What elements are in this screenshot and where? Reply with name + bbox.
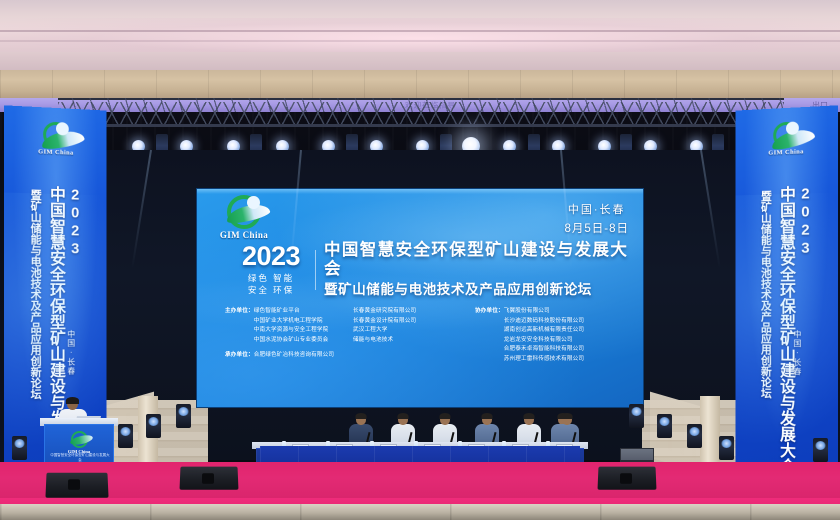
organizer-item: 中国水泥协会矿山专业委员会 <box>254 336 329 346</box>
coorganizer-item: 湖南创远高新机械有限责任公司 <box>504 326 584 336</box>
floor-moving-light-icon <box>657 414 672 438</box>
organizer-item: 长春黄金研究院有限公司 <box>353 307 465 317</box>
undertaker-label: 承办单位： <box>225 351 254 361</box>
organizer-item: 储能与电池技术 <box>353 336 465 346</box>
banner-right-place: 中国·长春 <box>792 330 803 376</box>
screen-year-sub-1: 绿色 智能 <box>231 273 311 284</box>
screen-title-main: 中国智慧安全环保型矿山建设与发展大会 暨矿山储能与电池技术及产品应用创新论坛 <box>324 241 631 298</box>
sponsor-col-coorganizer: 协办单位：飞翼股份有限公司 协办单位：长沙迪迈数码科技股份有限公司 协办单位：湖… <box>475 307 625 365</box>
gim-ring-icon <box>773 121 799 148</box>
stage-photo: 欢迎莅临指导 出口 <box>0 0 840 520</box>
screen-year-block: 2023 绿色 智能 安全 环保 <box>231 243 311 296</box>
gim-logo-text: GIM China <box>209 230 279 240</box>
ceiling-glow <box>0 18 840 52</box>
organizer-item: 绿色智能矿业平台 <box>254 307 300 317</box>
organizer-label: 主办单位： <box>225 307 254 317</box>
stage-monitor-speaker <box>45 473 108 498</box>
screen-city: 中国·长春 <box>564 201 629 217</box>
panelist-hair <box>562 413 573 419</box>
screen-sponsors: 主办单位：绿色智能矿业平台 主办单位：中国矿业大学机电工程学院 主办单位：中南大… <box>225 307 644 365</box>
gim-ring-icon <box>71 431 88 448</box>
title-divider <box>315 250 316 290</box>
gim-logo-text: GIM China <box>25 148 86 157</box>
floor-moving-light-icon <box>12 436 27 460</box>
stage-carpet <box>0 462 840 502</box>
banner-right-title-sub: 暨矿山储能与电池技术及产品应用创新论坛 <box>758 190 774 485</box>
floor-moving-light-icon <box>118 424 133 448</box>
floor-moving-light-icon <box>687 424 702 448</box>
coorganizer-item: 飞翼股份有限公司 <box>504 307 550 317</box>
gim-ring-icon <box>43 121 69 148</box>
screen-dates: 8月5日-8日 <box>564 220 629 236</box>
pillar-right <box>700 396 720 472</box>
panelist-hair <box>524 413 535 419</box>
coorganizer-item: 长沙迪迈数码科技股份有限公司 <box>504 317 584 327</box>
floor-moving-light-icon <box>176 404 191 428</box>
coorganizer-item: 合肥泰禾卓海智能科技有限公司 <box>504 345 584 355</box>
sponsor-col-organizer-1: 主办单位：绿色智能矿业平台 主办单位：中国矿业大学机电工程学院 主办单位：中南大… <box>225 307 343 365</box>
gim-logo-text: GIM China <box>756 148 817 157</box>
panelist-hair <box>482 413 493 419</box>
banner-right-logo: GIM China <box>756 121 817 158</box>
stage-apron-edge <box>0 504 840 520</box>
undertaker-value: 合肥绿色矿冶科技咨询有限公司 <box>254 351 334 361</box>
screen-place-block: 中国·长春 8月5日-8日 <box>564 201 629 236</box>
coorganizer-item: 龙岩龙安安全科技有限公司 <box>504 336 573 346</box>
floor-moving-light-icon <box>629 404 644 428</box>
screen-top-highlight <box>197 189 643 194</box>
main-led-screen: GIM China 中国·长春 8月5日-8日 2023 绿色 智能 安全 环保… <box>196 188 644 408</box>
floor-moving-light-icon <box>813 438 828 462</box>
lighting-truss <box>58 98 784 134</box>
organizer-item: 长春黄金设计院有限公司 <box>353 317 465 327</box>
organizer-item: 中南大学资源与安全工程学院 <box>254 326 329 336</box>
panelist-hair <box>440 413 451 419</box>
ceiling <box>0 0 840 70</box>
stage-monitor-speaker <box>180 467 239 490</box>
screen-title-line1: 中国智慧安全环保型矿山建设与发展大会 <box>324 241 631 279</box>
lectern-logo: GIM China <box>57 431 101 454</box>
organizer-item: 中国矿业大学机电工程学院 <box>254 317 323 327</box>
screen-title-line2: 暨矿山储能与电池技术及产品应用创新论坛 <box>324 282 631 298</box>
truss-diagonals <box>58 98 784 112</box>
ceiling-molding-line <box>0 30 840 32</box>
screen-gim-logo: GIM China <box>209 195 279 240</box>
screen-year: 2023 <box>231 243 311 270</box>
sponsor-col-organizer-2: 长春黄金研究院有限公司 长春黄金设计院有限公司 武汉工程大学 储能与电池技术 <box>353 307 465 365</box>
ceiling-molding-line-2 <box>0 40 840 42</box>
floor-moving-light-icon <box>719 436 734 460</box>
panelist-hair <box>398 413 409 419</box>
coorganizer-label: 协办单位： <box>475 307 504 317</box>
gim-ring-icon <box>227 195 261 229</box>
stage-monitor-speaker <box>598 467 657 490</box>
panelist-hair <box>356 413 367 419</box>
banner-left-title-sub: 暨矿山储能与电池技术及产品应用创新论坛 <box>27 189 43 487</box>
cornice-band <box>0 70 840 98</box>
coorganizer-item: 苏州理工雷科传感技术有限公司 <box>504 355 584 365</box>
banner-left-place: 中国·长春 <box>66 330 77 376</box>
speaker-hair <box>66 397 79 404</box>
banner-left-logo: GIM China <box>25 121 86 158</box>
truss-bottom-chord <box>58 124 784 127</box>
floor-moving-light-icon <box>146 414 161 438</box>
organizer-item: 武汉工程大学 <box>353 326 465 336</box>
screen-year-sub-2: 安全 环保 <box>231 285 311 296</box>
